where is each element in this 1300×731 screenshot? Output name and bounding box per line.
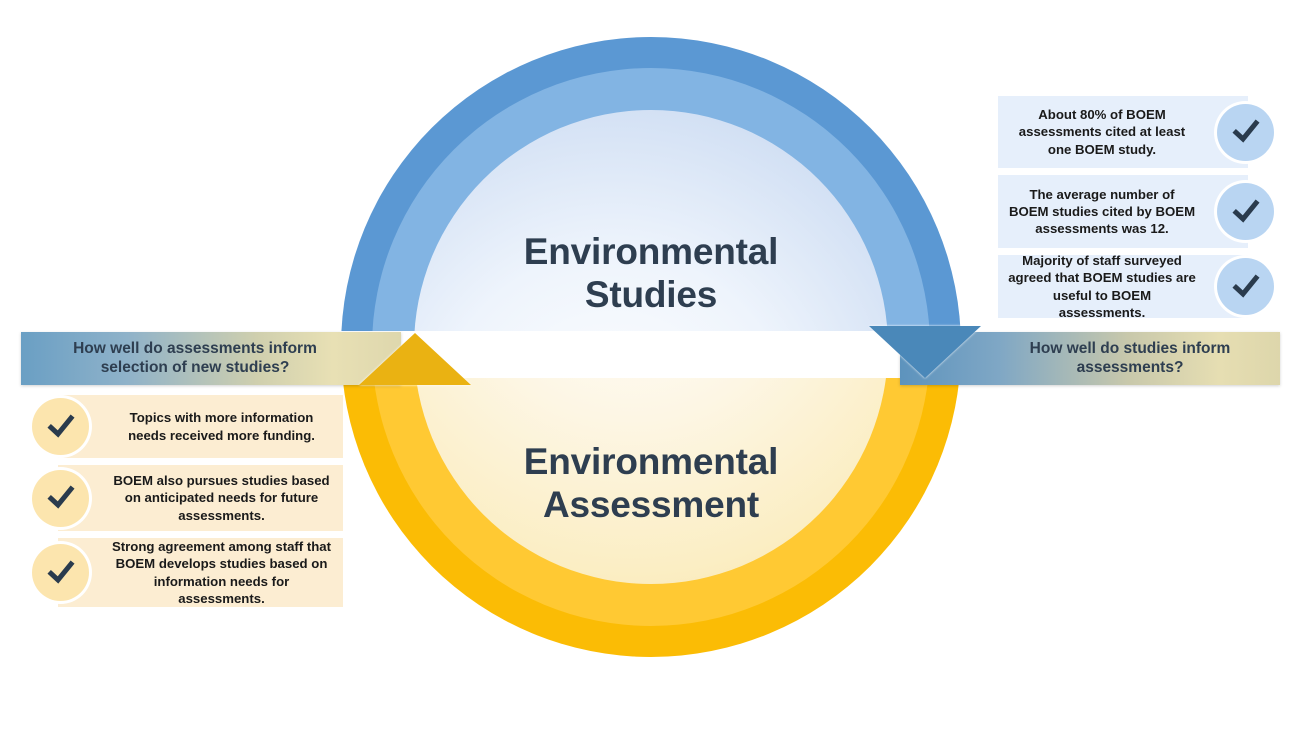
fact-box-left-2: BOEM also pursues studies based on antic… — [58, 465, 343, 531]
arrow-up-icon — [359, 333, 471, 385]
banner-right-text: How well do studies inform assessments? — [980, 339, 1280, 379]
cycle-label-assessment-line1: Environmental — [341, 441, 961, 484]
banner-right-line2: assessments? — [980, 359, 1280, 379]
fact-box-left-1-text: Topics with more information needs recei… — [110, 409, 333, 443]
cycle-label-studies-line2: Studies — [341, 274, 961, 317]
cycle-label-assessment: Environmental Assessment — [341, 441, 961, 527]
check-icon — [32, 470, 89, 527]
fact-box-right-1: About 80% of BOEM assessments cited at l… — [998, 96, 1248, 168]
cycle-label-studies: Environmental Studies — [341, 231, 961, 317]
check-icon — [32, 398, 89, 455]
fact-box-left-3: Strong agreement among staff that BOEM d… — [58, 538, 343, 607]
check-icon — [1217, 258, 1274, 315]
fact-box-right-2: The average number of BOEM studies cited… — [998, 175, 1248, 248]
banner-left-line2: selection of new studies? — [21, 359, 369, 379]
cycle-label-studies-line1: Environmental — [341, 231, 961, 274]
fact-box-right-1-text: About 80% of BOEM assessments cited at l… — [1008, 106, 1196, 157]
fact-box-left-3-text: Strong agreement among staff that BOEM d… — [110, 538, 333, 606]
cycle-label-assessment-line2: Assessment — [341, 484, 961, 527]
fact-box-right-3-text: Majority of staff surveyed agreed that B… — [1008, 252, 1196, 320]
check-icon — [32, 544, 89, 601]
check-icon — [1217, 183, 1274, 240]
arrow-down-icon — [869, 326, 981, 378]
banner-left-text: How well do assessments inform selection… — [21, 339, 369, 379]
fact-box-right-3: Majority of staff surveyed agreed that B… — [998, 255, 1248, 318]
banner-left-line1: How well do assessments inform — [21, 339, 369, 359]
check-icon — [1217, 104, 1274, 161]
banner-right-line1: How well do studies inform — [980, 339, 1280, 359]
fact-box-left-1: Topics with more information needs recei… — [58, 395, 343, 458]
fact-box-left-2-text: BOEM also pursues studies based on antic… — [110, 472, 333, 523]
banner-assessments-inform-studies: How well do assessments inform selection… — [21, 332, 401, 385]
fact-box-right-2-text: The average number of BOEM studies cited… — [1008, 186, 1196, 237]
